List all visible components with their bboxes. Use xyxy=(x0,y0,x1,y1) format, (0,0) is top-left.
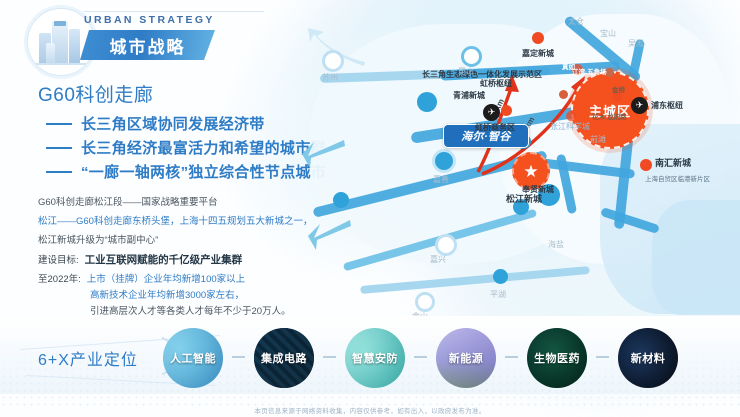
separator-icon xyxy=(414,356,427,358)
airplane-icon[interactable]: ✈ xyxy=(483,104,500,121)
map-label-jiading: 嘉定新城 xyxy=(522,48,554,59)
map-node-blue[interactable] xyxy=(417,92,437,112)
map-label-jinqiao: 金桥 xyxy=(612,84,625,94)
map-label-zhangjiang: 张江科学城 xyxy=(550,121,590,132)
page-title: 城市战略 xyxy=(80,30,215,60)
map-label-qiantan: 前滩 xyxy=(590,134,606,145)
map-node-blue[interactable] xyxy=(435,152,453,170)
map-city-baoshan: 宝山 xyxy=(600,28,616,39)
bullet-label: 长三角经济最富活力和希望的城市群 xyxy=(81,137,326,158)
industry-item-security[interactable]: 智慧安防 xyxy=(345,328,405,388)
map-label-hongqiao-cbd: 虹桥商务区 xyxy=(475,122,515,133)
map-node[interactable] xyxy=(415,292,435,312)
industry-label: 生物医药 xyxy=(534,350,580,366)
map-node-red[interactable] xyxy=(566,111,576,121)
map-city-jiashan: 嘉善 xyxy=(433,174,449,185)
detail-text: G60科创走廊松江段——国家战略重要平台 xyxy=(38,195,217,211)
separator-icon xyxy=(596,356,609,358)
map-node-red[interactable] xyxy=(532,32,544,44)
map-label-qingpu: 青浦新城 xyxy=(453,90,485,101)
star-icon: ★ xyxy=(523,163,538,180)
page-title-text: 城市战略 xyxy=(110,33,186,58)
sea-area xyxy=(652,200,740,315)
map-node-red[interactable] xyxy=(501,105,512,116)
dash-icon xyxy=(46,147,72,149)
industry-item-newenergy[interactable]: 新能源 xyxy=(436,328,496,388)
map-node[interactable] xyxy=(461,46,482,67)
industry-label: 新材料 xyxy=(631,350,666,366)
map-label-hongqiao-hub: 虹桥枢纽 xyxy=(480,78,512,89)
y2022-item: 高新技术企业年均新增3000家左右， xyxy=(90,290,244,301)
y2022-label: 至2022年: xyxy=(38,272,81,288)
map-label-nanhui: 南汇新城 xyxy=(655,156,691,169)
bullet-label: 长三角区域协同发展经济带 xyxy=(81,113,265,134)
map-node-blue[interactable] xyxy=(333,192,349,208)
industry-item-newmaterial[interactable]: 新材料 xyxy=(618,328,678,388)
slide-canvas: URBAN STRATEGY 城市战略 G60科创走廊 长三角区域协同发展经济带… xyxy=(0,0,740,417)
map-city-haiyan: 海盐 xyxy=(548,239,564,250)
industry-label: 新能源 xyxy=(449,350,484,366)
positioning-label: 6+X产业定位 xyxy=(38,346,138,370)
industry-item-ai[interactable]: 人工智能 xyxy=(163,328,223,388)
dash-icon xyxy=(46,171,72,173)
dash-icon xyxy=(46,123,72,125)
goal-value: 工业互联网赋能的千亿级产业集群 xyxy=(85,252,243,268)
separator-icon xyxy=(232,356,245,358)
goal-label: 建设目标: xyxy=(38,253,79,269)
map-node[interactable] xyxy=(435,234,457,256)
map-city-kunshan: 昆山 xyxy=(458,66,474,77)
map-label-jiangwan: 江湾·五角场 xyxy=(572,66,607,76)
header-eyebrow: URBAN STRATEGY xyxy=(84,14,215,26)
detail-text: 松江新城升级为“城市副中心” xyxy=(38,233,158,249)
map-city-pinghu: 平湖 xyxy=(490,289,506,300)
map-label-huamu: 花木·龙阳路 xyxy=(592,111,627,121)
map-label-pudong-hub: 浦东枢纽 xyxy=(651,100,683,111)
industry-item-ic[interactable]: 集成电路 xyxy=(254,328,314,388)
header-rule xyxy=(84,11,264,12)
map-node-red[interactable] xyxy=(559,90,568,99)
map-node-blue[interactable] xyxy=(493,269,508,284)
separator-icon xyxy=(505,356,518,358)
direction-arrow-icon xyxy=(300,134,346,174)
map-label-lingang-zone: 上海自贸区临港新片区 xyxy=(645,175,715,184)
direction-arrow-icon xyxy=(306,216,352,256)
airplane-icon[interactable]: ✈ xyxy=(631,97,648,114)
map-node[interactable] xyxy=(322,50,344,72)
map-city-wusong: 吴淞 xyxy=(628,38,644,49)
footnote: 本页信息来源于网络资料收集，内容仅供参考，如有出入，以政府发布为准。 xyxy=(0,405,740,415)
industry-label: 智慧安防 xyxy=(352,350,398,366)
industry-label: 人工智能 xyxy=(170,350,216,366)
map-city-taicang: 太仓 xyxy=(568,16,584,27)
industry-item-biomed[interactable]: 生物医药 xyxy=(527,328,587,388)
map-label-fengxian: 奉贤新城 xyxy=(522,184,554,195)
bullet-label: “一廊一轴两核”独立综合性节点城市 xyxy=(81,161,326,182)
regional-map[interactable]: 17km 28km 主城区 真如 江湾·五角场 金桥 花木·龙阳路 前滩 xyxy=(300,4,740,314)
map-city-jiaxing: 嘉兴 xyxy=(430,254,446,265)
header: URBAN STRATEGY 城市战略 xyxy=(22,4,252,76)
industry-strip: 6+X产业定位 人工智能 集成电路 智慧安防 新能源 xyxy=(0,316,740,417)
separator-icon xyxy=(323,356,336,358)
industry-label: 集成电路 xyxy=(261,350,307,366)
map-node-red[interactable] xyxy=(640,159,652,171)
detail-text: 松江——G60科创走廊东桥头堡，上海十四五规划五大新城之一， xyxy=(38,214,312,230)
map-city-suzhou: 苏州 xyxy=(322,72,338,83)
corridor-belt xyxy=(360,266,590,294)
y2022-item: 上市（挂牌）企业年均新增100家以上 xyxy=(87,272,245,288)
